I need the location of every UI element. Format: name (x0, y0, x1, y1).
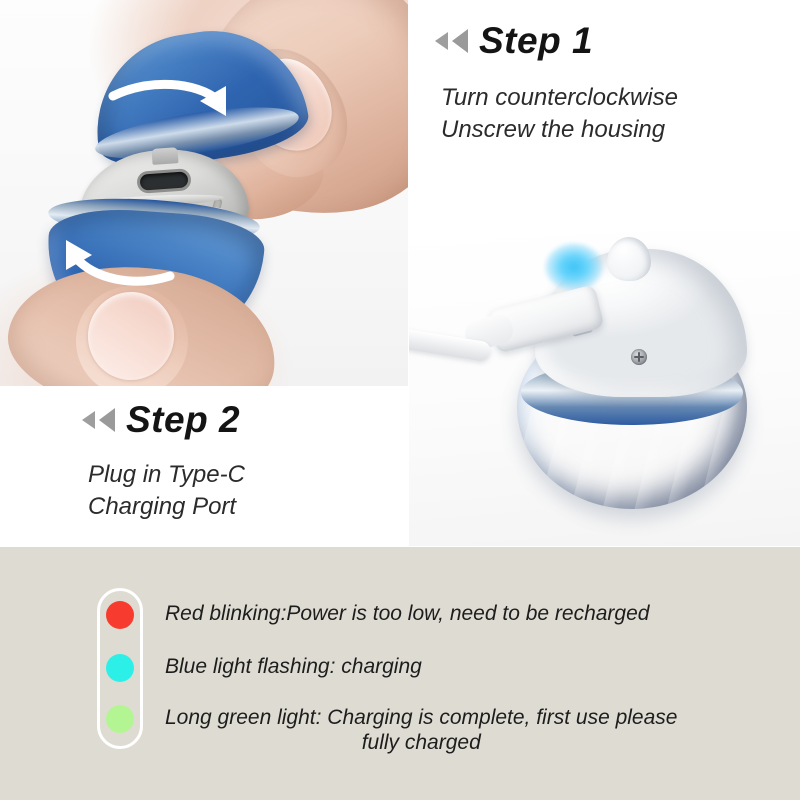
photo-unscrew-housing (0, 0, 408, 386)
step-2-panel: Step 2 Plug in Type-C Charging Port (0, 386, 408, 546)
step-1-title: Step 1 (479, 22, 593, 59)
led-dot-red (106, 601, 134, 629)
legend-label-green: Long green light: Charging is complete, … (165, 705, 677, 755)
led-dot-green (106, 705, 134, 733)
led-indicator-glow (545, 243, 603, 291)
photo-charging-port (409, 231, 800, 546)
triangle-left-icon (435, 32, 448, 50)
infographic-page: Step 1 Turn counterclockwise Unscrew the… (0, 0, 800, 800)
step-1-panel: Step 1 Turn counterclockwise Unscrew the… (409, 0, 800, 230)
module-tab (151, 147, 178, 165)
led-status-legend: Red blinking:Power is too low, need to b… (0, 547, 800, 800)
dome-nub (607, 237, 651, 281)
triangle-left-icon (82, 411, 95, 429)
legend-item-blue: Blue light flashing: charging (101, 654, 422, 682)
step-2-description: Plug in Type-C Charging Port (88, 459, 245, 523)
legend-label-red: Red blinking:Power is too low, need to b… (165, 601, 649, 626)
step-1-description: Turn counterclockwise Unscrew the housin… (441, 82, 678, 146)
led-dot-blue (106, 654, 134, 682)
legend-label-green-line1: Long green light: Charging is complete, … (165, 706, 677, 729)
legend-label-green-line2: fully charged (165, 730, 677, 755)
step-1-heading: Step 1 (435, 22, 593, 59)
triangle-left-icon (99, 408, 115, 432)
screw-icon (631, 349, 647, 365)
legend-label-blue: Blue light flashing: charging (165, 654, 422, 679)
step-2-heading: Step 2 (82, 401, 240, 438)
triangle-left-icon (452, 29, 468, 53)
legend-item-red: Red blinking:Power is too low, need to b… (101, 601, 649, 629)
legend-item-green: Long green light: Charging is complete, … (101, 705, 677, 755)
step-2-title: Step 2 (126, 401, 240, 438)
usb-c-port-icon (136, 168, 191, 194)
